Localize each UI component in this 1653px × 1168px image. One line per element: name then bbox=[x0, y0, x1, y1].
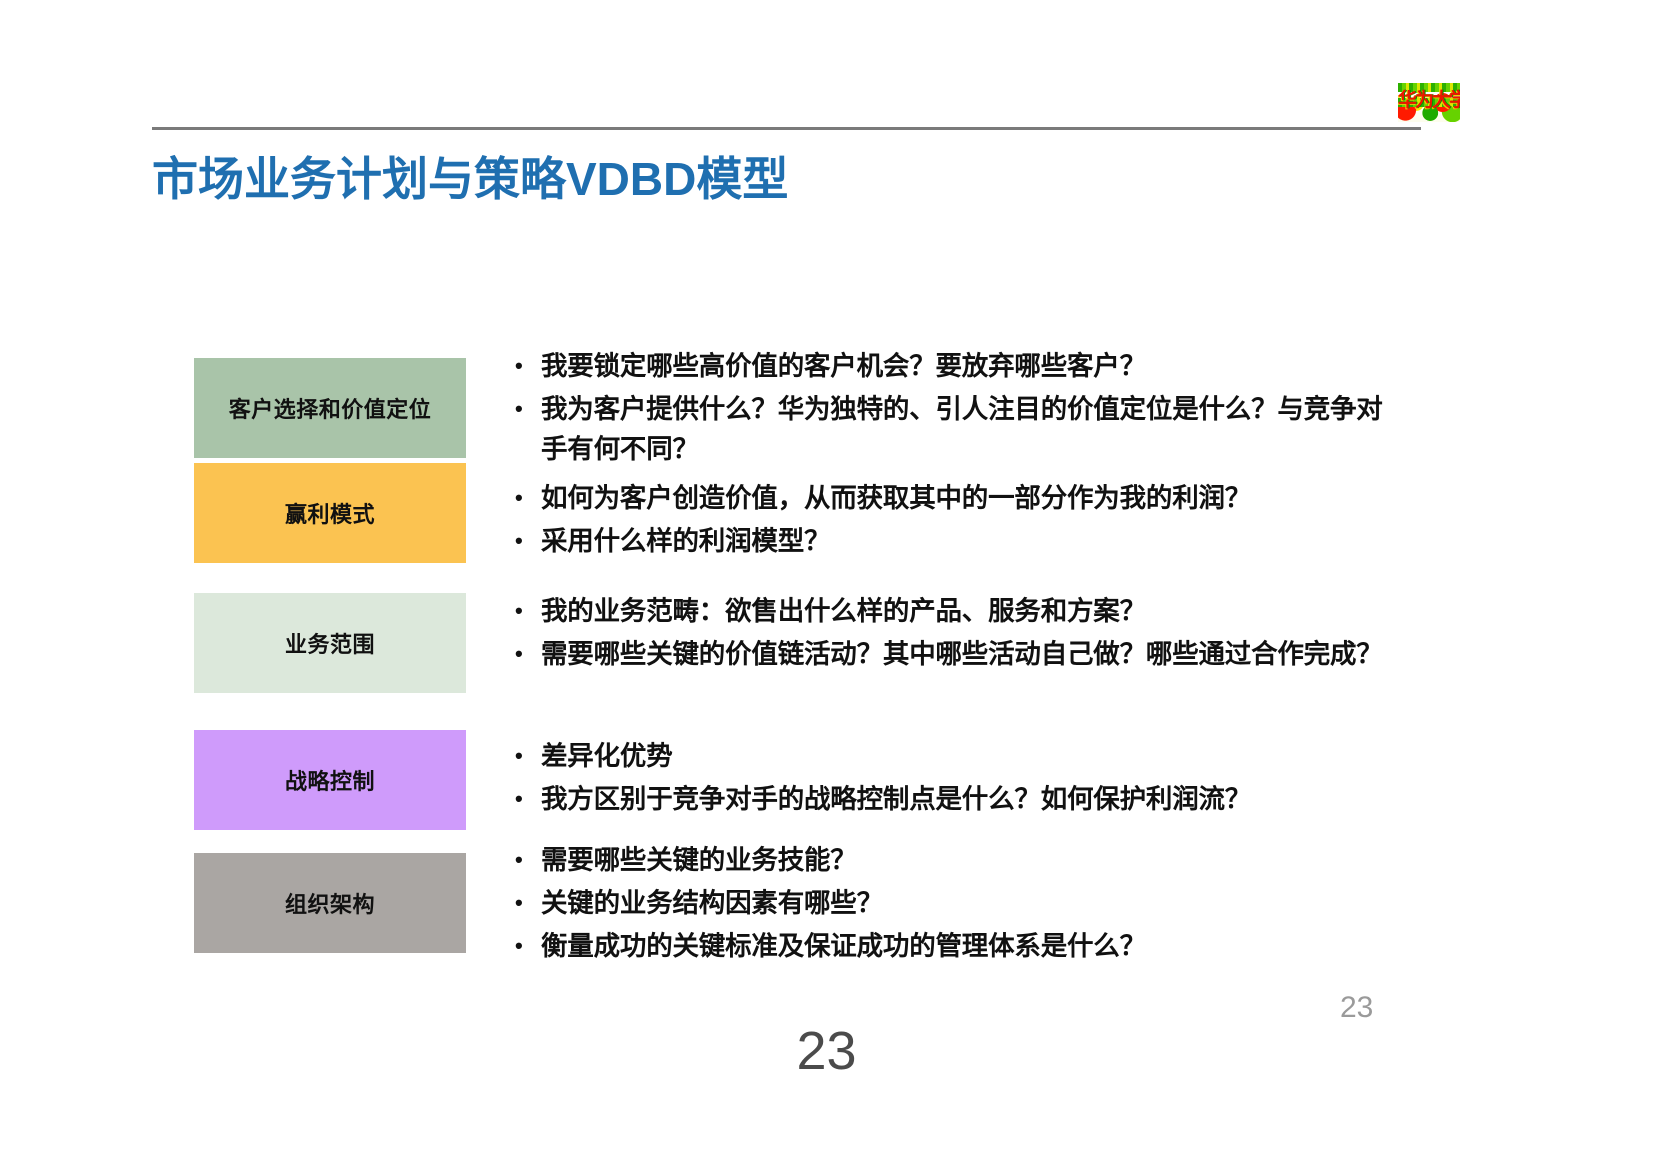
bullet-text: 我为客户提供什么？华为独特的、引人注目的价值定位是什么？与竞争对手有何不同？ bbox=[541, 389, 1395, 469]
bullet-text: 关键的业务结构因素有哪些？ bbox=[541, 883, 1395, 923]
row-bullet-list: • 需要哪些关键的业务技能？ • 关键的业务结构因素有哪些？ • 衡量成功的关键… bbox=[515, 840, 1395, 966]
bullet-marker-icon: • bbox=[515, 883, 541, 923]
row-label-box: 客户选择和价值定位 bbox=[194, 358, 466, 458]
page-title: 市场业务计划与策略VDBD模型 bbox=[152, 143, 788, 209]
row-label-box: 组织架构 bbox=[194, 853, 466, 953]
bullet-marker-icon: • bbox=[515, 840, 541, 880]
row-bullet-list: • 如何为客户创造价值，从而获取其中的一部分作为我的利润？ • 采用什么样的利润… bbox=[515, 478, 1395, 561]
bullet-marker-icon: • bbox=[515, 346, 541, 386]
row-label-box: 业务范围 bbox=[194, 593, 466, 693]
slide-canvas: 华为大学 市场业务计划与策略VDBD模型 客户选择和价值定位 • 我要锁定哪些高… bbox=[0, 0, 1653, 1168]
bullet-marker-icon: • bbox=[515, 478, 541, 518]
bullet-marker-icon: • bbox=[515, 779, 541, 819]
bullet-marker-icon: • bbox=[515, 521, 541, 561]
row-bullet-list: • 我要锁定哪些高价值的客户机会？要放弃哪些客户？ • 我为客户提供什么？华为独… bbox=[515, 346, 1395, 469]
bullet-text: 我要锁定哪些高价值的客户机会？要放弃哪些客户？ bbox=[541, 346, 1395, 386]
header-divider bbox=[152, 127, 1421, 130]
page-number-footer: 23 bbox=[0, 1020, 1653, 1082]
list-item: • 关键的业务结构因素有哪些？ bbox=[515, 883, 1395, 923]
row-label-box: 战略控制 bbox=[194, 730, 466, 830]
huawei-university-logo-icon: 华为大学 bbox=[1398, 82, 1460, 122]
bullet-marker-icon: • bbox=[515, 591, 541, 631]
list-item: • 我要锁定哪些高价值的客户机会？要放弃哪些客户？ bbox=[515, 346, 1395, 386]
bullet-text: 衡量成功的关键标准及保证成功的管理体系是什么？ bbox=[541, 926, 1395, 966]
bullet-text: 我方区别于竞争对手的战略控制点是什么？如何保护利润流？ bbox=[541, 779, 1395, 819]
bullet-text: 如何为客户创造价值，从而获取其中的一部分作为我的利润？ bbox=[541, 478, 1395, 518]
logo-wordmark: 华为大学 bbox=[1398, 91, 1460, 111]
bullet-marker-icon: • bbox=[515, 634, 541, 674]
row-bullet-list: • 差异化优势 • 我方区别于竞争对手的战略控制点是什么？如何保护利润流？ bbox=[515, 736, 1395, 819]
bullet-marker-icon: • bbox=[515, 389, 541, 429]
list-item: • 如何为客户创造价值，从而获取其中的一部分作为我的利润？ bbox=[515, 478, 1395, 518]
list-item: • 需要哪些关键的业务技能？ bbox=[515, 840, 1395, 880]
bullet-text: 需要哪些关键的价值链活动？其中哪些活动自己做？哪些通过合作完成？ bbox=[541, 634, 1395, 674]
bullet-text: 需要哪些关键的业务技能？ bbox=[541, 840, 1395, 880]
bullet-text: 差异化优势 bbox=[541, 736, 1395, 776]
bullet-marker-icon: • bbox=[515, 736, 541, 776]
list-item: • 我为客户提供什么？华为独特的、引人注目的价值定位是什么？与竞争对手有何不同？ bbox=[515, 389, 1395, 469]
list-item: • 差异化优势 bbox=[515, 736, 1395, 776]
bullet-marker-icon: • bbox=[515, 926, 541, 966]
bullet-text: 采用什么样的利润模型？ bbox=[541, 521, 1395, 561]
row-bullet-list: • 我的业务范畴：欲售出什么样的产品、服务和方案？ • 需要哪些关键的价值链活动… bbox=[515, 591, 1395, 674]
list-item: • 我的业务范畴：欲售出什么样的产品、服务和方案？ bbox=[515, 591, 1395, 631]
list-item: • 衡量成功的关键标准及保证成功的管理体系是什么？ bbox=[515, 926, 1395, 966]
list-item: • 需要哪些关键的价值链活动？其中哪些活动自己做？哪些通过合作完成？ bbox=[515, 634, 1395, 674]
list-item: • 采用什么样的利润模型？ bbox=[515, 521, 1395, 561]
list-item: • 我方区别于竞争对手的战略控制点是什么？如何保护利润流？ bbox=[515, 779, 1395, 819]
bullet-text: 我的业务范畴：欲售出什么样的产品、服务和方案？ bbox=[541, 591, 1395, 631]
row-label-box: 赢利模式 bbox=[194, 463, 466, 563]
